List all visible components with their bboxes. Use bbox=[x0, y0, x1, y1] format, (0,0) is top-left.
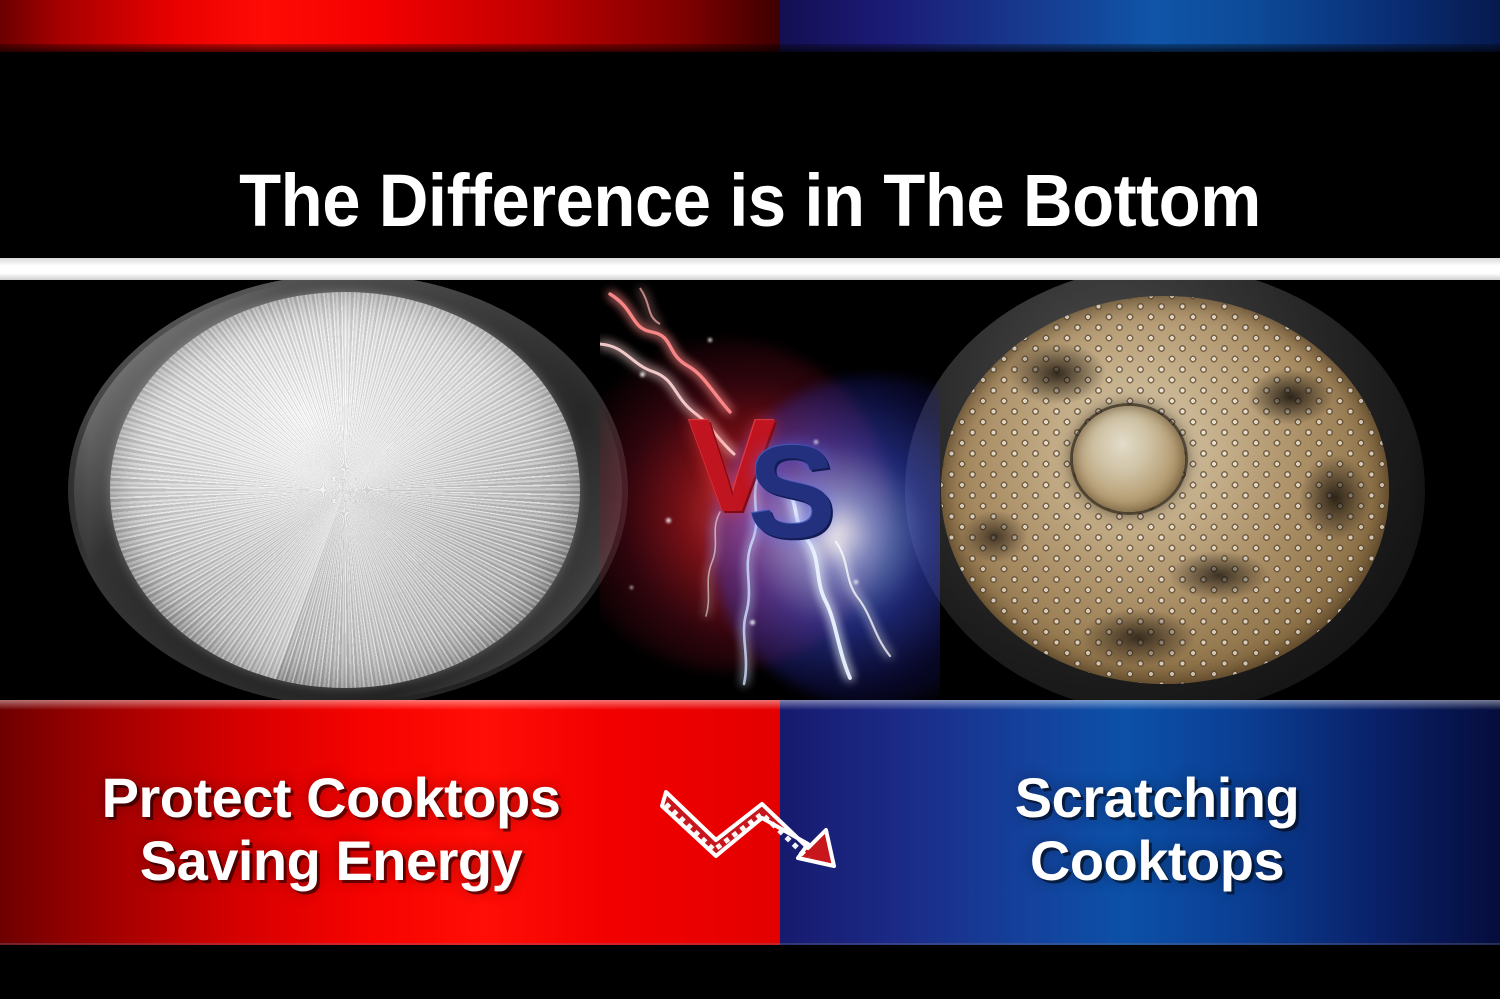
spark-dot bbox=[854, 580, 858, 584]
spark-dot bbox=[708, 338, 712, 342]
left-caption-line2: Saving Energy bbox=[0, 829, 662, 892]
right-caption-line1: Scratching bbox=[814, 766, 1500, 829]
footer-black-strip bbox=[0, 945, 1500, 999]
zigzag-arrow-icon bbox=[658, 778, 858, 874]
spark-dot bbox=[640, 372, 645, 377]
msmk-pan-photo bbox=[68, 280, 628, 700]
scratched-pan-photo bbox=[905, 280, 1425, 700]
caption-band-top-glow bbox=[0, 700, 1500, 710]
white-separator-band bbox=[0, 258, 1500, 280]
right-caption-line2: Cooktops bbox=[814, 829, 1500, 892]
strip-right-vignette bbox=[1410, 280, 1500, 700]
headline-area: The Difference is in The Bottom bbox=[0, 52, 1500, 258]
vs-letter-s: S bbox=[748, 426, 836, 558]
spark-dot bbox=[750, 620, 755, 625]
bad-pan-center-disc bbox=[1073, 406, 1185, 512]
vs-badge: V S bbox=[600, 400, 940, 560]
caption-band-blue: Scratching Cooktops bbox=[780, 700, 1500, 945]
comparison-photo-strip: MSMK® ▣ Electric ▩ Gas ◎ Halogen ◉ bbox=[0, 280, 1500, 700]
product-comparison-poster: The Difference is in The Bottom MSMK® ▣ … bbox=[0, 0, 1500, 999]
spark-dot bbox=[630, 586, 633, 589]
versus-panel: V S bbox=[600, 280, 940, 700]
right-caption: Scratching Cooktops bbox=[780, 766, 1500, 892]
strip-left-vignette bbox=[0, 280, 90, 700]
page-title: The Difference is in The Bottom bbox=[53, 164, 1448, 238]
left-caption-line1: Protect Cooktops bbox=[0, 766, 662, 829]
pan-base-sheen bbox=[110, 292, 580, 688]
